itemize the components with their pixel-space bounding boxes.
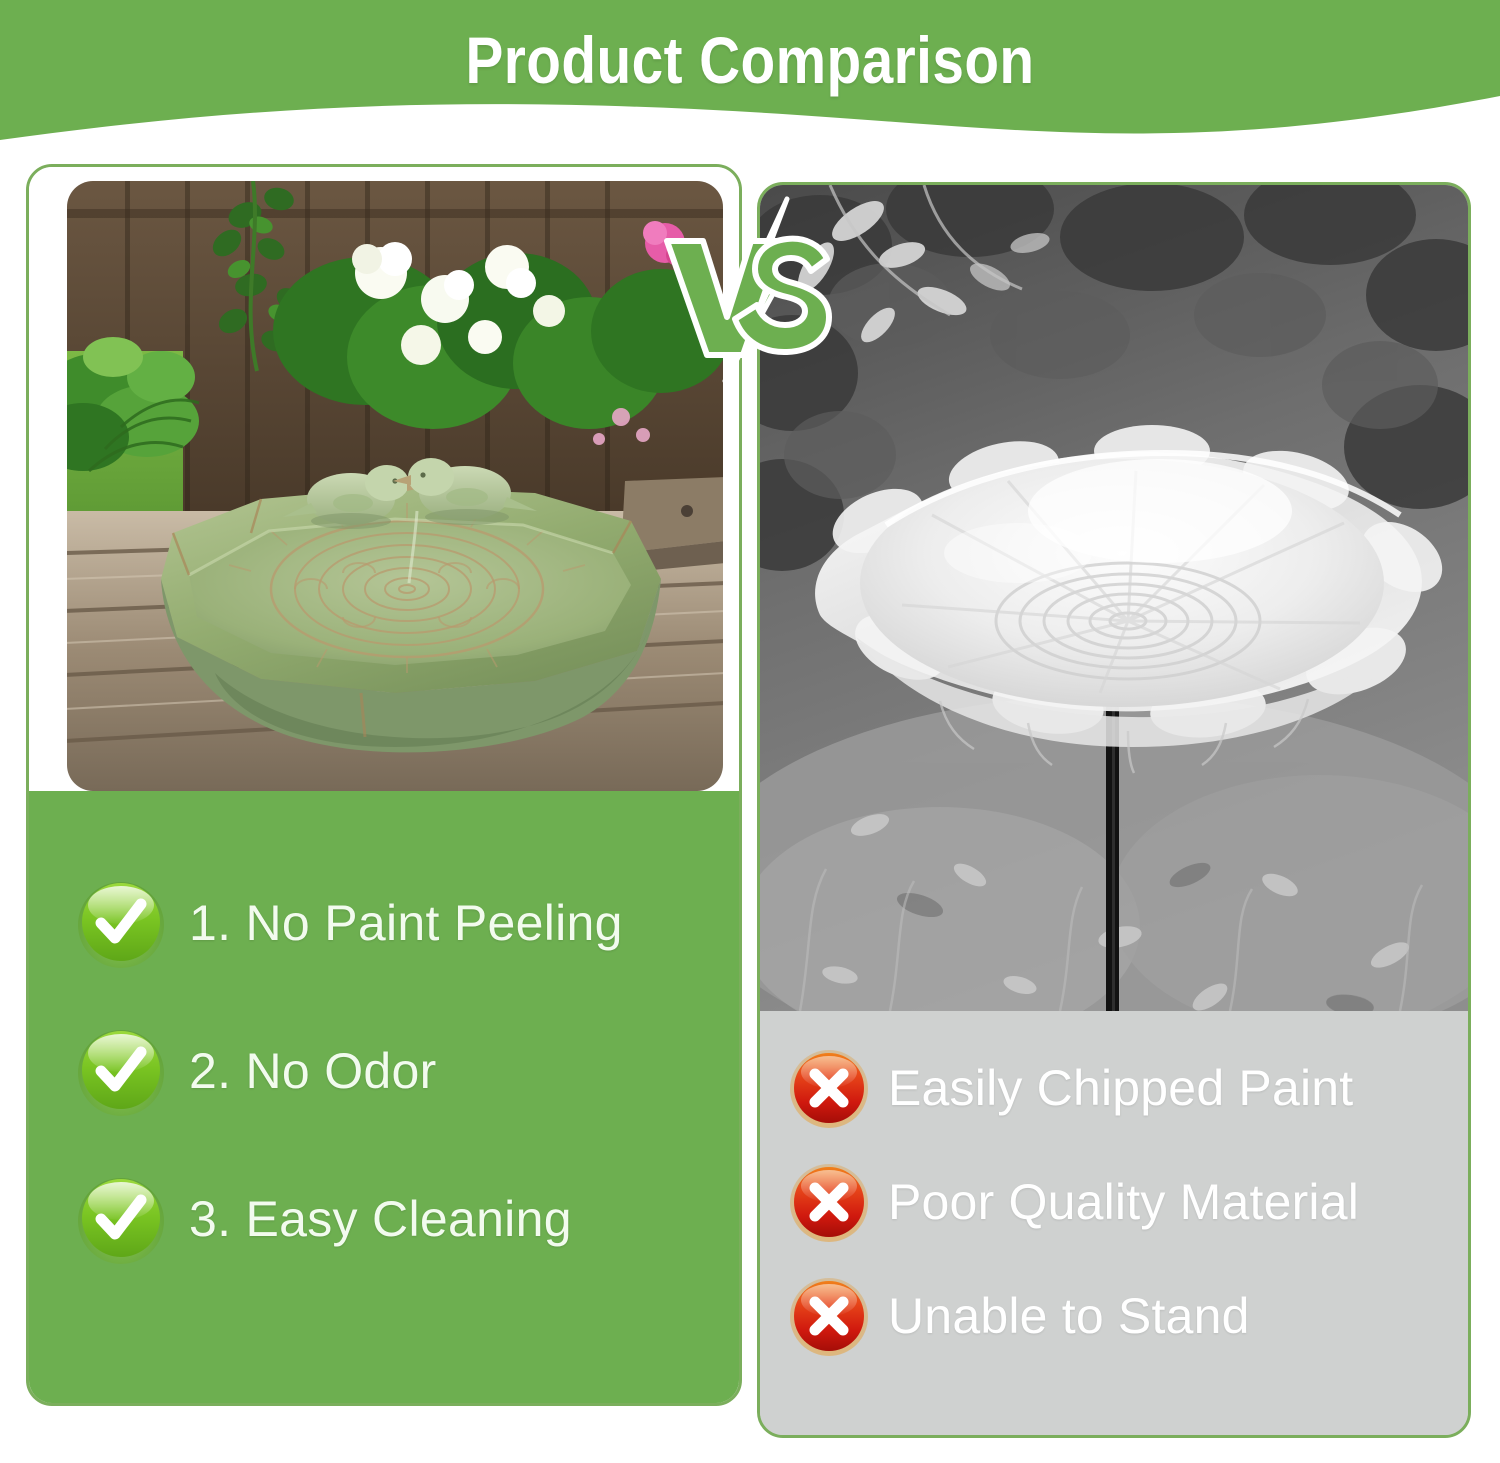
list-item-label: Poor Quality Material (888, 1173, 1359, 1231)
left-benefits-list: 1. No Paint Peeling 2. No Odor (29, 791, 739, 1403)
list-item: 1. No Paint Peeling (29, 877, 739, 969)
page-title: Product Comparison (105, 22, 1395, 98)
right-drawbacks-list: Easily Chipped Paint Poor Quality Materi… (760, 1011, 1468, 1435)
green-ceramic-birdbath-photo (67, 181, 723, 791)
product-comparison-infographic: Product Comparison (0, 0, 1500, 1463)
list-item: Easily Chipped Paint (760, 1047, 1468, 1129)
list-item-label: Unable to Stand (888, 1287, 1250, 1345)
list-item-label: 2. No Odor (189, 1042, 437, 1100)
list-item-label: 1. No Paint Peeling (189, 894, 623, 952)
list-item: 2. No Odor (29, 1025, 739, 1117)
cross-circle-icon (788, 1047, 870, 1129)
check-circle-icon (75, 1025, 167, 1117)
glass-birdbath-photo (760, 185, 1468, 1011)
list-item-label: 3. Easy Cleaning (189, 1190, 572, 1248)
cross-circle-icon (788, 1275, 870, 1357)
list-item-label: Easily Chipped Paint (888, 1059, 1353, 1117)
cross-circle-icon (788, 1161, 870, 1243)
list-item: Poor Quality Material (760, 1161, 1468, 1243)
check-circle-icon (75, 877, 167, 969)
list-item: Unable to Stand (760, 1275, 1468, 1357)
list-item: 3. Easy Cleaning (29, 1173, 739, 1265)
check-circle-icon (75, 1173, 167, 1265)
right-comparison-panel: Easily Chipped Paint Poor Quality Materi… (757, 182, 1471, 1438)
left-comparison-panel: 1. No Paint Peeling 2. No Odor (26, 164, 742, 1406)
left-photo-frame (29, 167, 739, 791)
